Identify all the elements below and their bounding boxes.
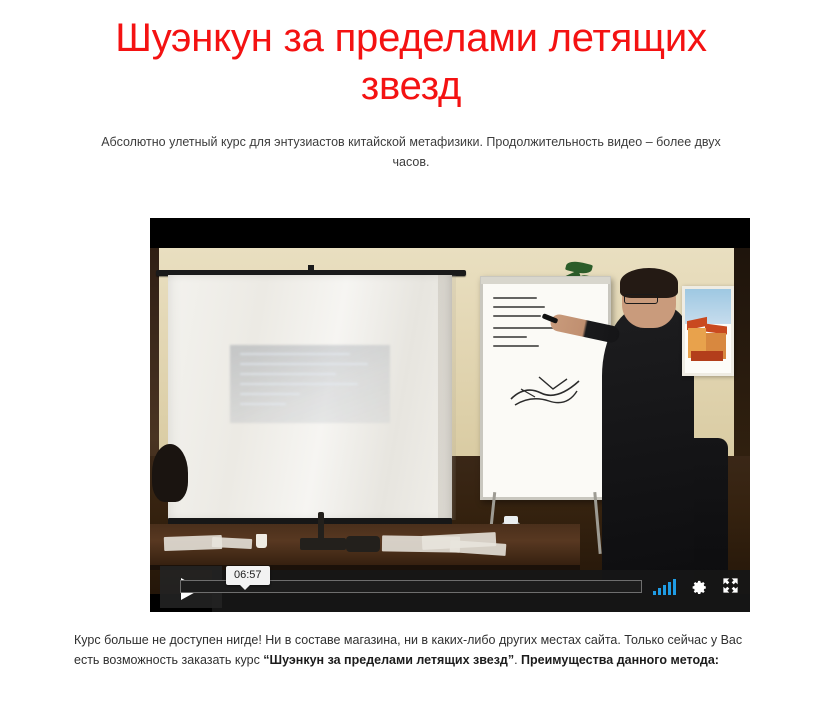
gear-icon[interactable] — [689, 576, 708, 595]
video-player[interactable]: 06:57 — [150, 218, 750, 612]
projected-slide — [230, 345, 390, 423]
wall-picture — [682, 286, 734, 376]
video-frame-image — [150, 248, 750, 594]
water-bottle-cap — [504, 516, 518, 524]
flipchart-diagram — [509, 371, 583, 411]
quality-bars-icon[interactable] — [653, 577, 676, 595]
offer-benefits-label: Преимущества данного метода: — [521, 653, 719, 667]
offer-paragraph: Курс больше не доступен нигде! Ни в сост… — [74, 630, 750, 670]
time-tooltip: 06:57 — [226, 566, 270, 585]
letterbox-top — [150, 218, 750, 248]
projector-screen — [168, 270, 452, 520]
screen-rail-nub — [308, 265, 314, 275]
attendee-head — [152, 444, 188, 502]
control-buttons-right[interactable] — [653, 576, 740, 595]
fullscreen-icon[interactable] — [721, 576, 740, 595]
screen-canvas — [168, 275, 452, 520]
presenter-glasses — [624, 294, 658, 304]
screen-fold-shadow — [438, 275, 456, 520]
offer-text-part2: . — [514, 653, 521, 667]
offer-course-name: “Шуэнкун за пределами летящих звезд” — [263, 653, 514, 667]
page-root: Шуэнкун за пределами летящих звезд Абсол… — [0, 0, 822, 710]
video-controls[interactable]: 06:57 — [150, 566, 750, 612]
page-subtitle: Абсолютно улетный курс для энтузиастов к… — [0, 110, 822, 172]
flipchart-board — [480, 276, 611, 500]
presenter-body — [602, 306, 694, 594]
page-title: Шуэнкун за пределами летящих звезд — [0, 0, 822, 110]
flipchart-clamp — [481, 277, 610, 284]
